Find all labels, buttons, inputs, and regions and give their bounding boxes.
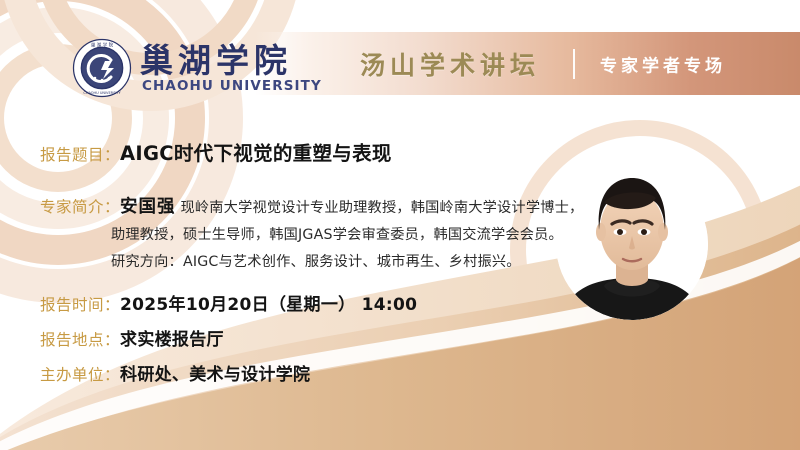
poster-canvas: 汤山学术讲坛 专家学者专场 巢 湖 学 院 CHAOHU (0, 0, 800, 450)
banner-subtitle: 专家学者专场 (600, 51, 726, 76)
report-title-label: 报告题目： (40, 143, 120, 165)
speaker-portrait (556, 168, 708, 320)
speaker-bio-line3: 研究方向：AIGC与艺术创作、服务设计、城市再生、乡村振兴。 (111, 251, 521, 271)
report-place-value: 求实楼报告厅 (120, 325, 224, 350)
report-host-value: 科研处、美术与设计学院 (120, 360, 310, 385)
svg-text:CHAOHU UNIVERSITY: CHAOHU UNIVERSITY (83, 91, 121, 95)
report-host-row: 主办单位： 科研处、美术与设计学院 (40, 360, 310, 385)
report-time-value: 2025年10月20日（星期一） 14:00 (120, 290, 417, 315)
banner-divider (573, 49, 575, 79)
poster-header: 汤山学术讲坛 专家学者专场 巢 湖 学 院 CHAOHU (0, 0, 800, 120)
speaker-bio-label: 专家简介： (40, 195, 120, 217)
speaker-bio-line1: 现岭南大学视觉设计专业助理教授，韩国岭南大学设计学博士， (181, 197, 584, 217)
event-banner: 汤山学术讲坛 专家学者专场 (255, 32, 800, 95)
report-time-label: 报告时间： (40, 293, 120, 315)
speaker-bio-line2: 助理教授，硕士生导师，韩国JGAS学会审查委员，韩国交流学会会员。 (111, 224, 563, 244)
university-logo: 巢 湖 学 院 CHAOHU UNIVERSITY 巢湖学院 CHAOHU UN… (72, 36, 287, 102)
report-host-label: 主办单位： (40, 363, 120, 385)
university-seal-icon: 巢 湖 学 院 CHAOHU UNIVERSITY (72, 38, 132, 98)
report-place-label: 报告地点： (40, 328, 120, 350)
report-time-row: 报告时间： 2025年10月20日（星期一） 14:00 (40, 290, 417, 315)
logo-name-en: CHAOHU UNIVERSITY (142, 78, 322, 94)
banner-title: 汤山学术讲坛 (360, 46, 540, 82)
speaker-bio-row: 专家简介： 安国强 现岭南大学视觉设计专业助理教授，韩国岭南大学设计学博士， (40, 193, 583, 218)
report-title-row: 报告题目： AIGC时代下视觉的重塑与表现 (40, 137, 392, 166)
speaker-name: 安国强 (120, 193, 176, 218)
report-place-row: 报告地点： 求实楼报告厅 (40, 325, 224, 350)
report-title-value: AIGC时代下视觉的重塑与表现 (120, 137, 392, 166)
logo-name-cn: 巢湖学院 (140, 34, 292, 82)
portrait-photo (556, 168, 708, 320)
